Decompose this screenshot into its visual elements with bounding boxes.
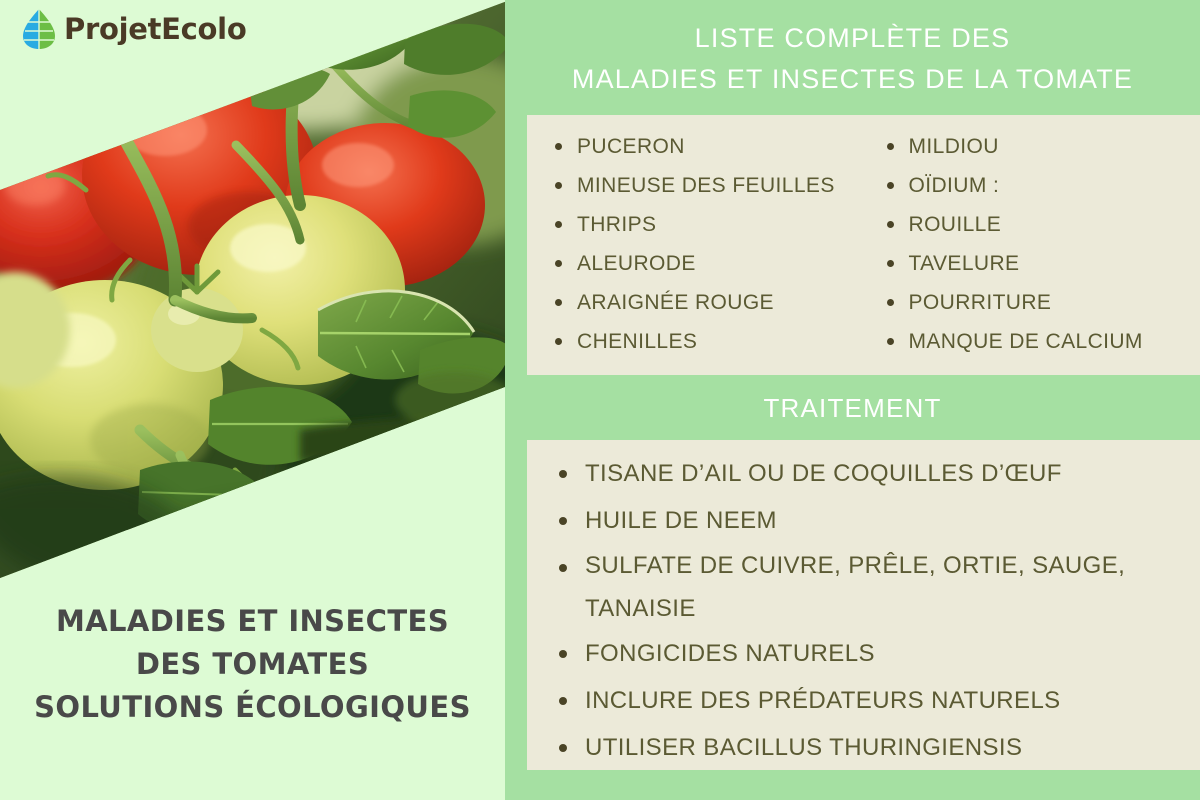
treatment-title: TRAITEMENT [505,388,1200,429]
right-panel: LISTE COMPLÈTE DES MALADIES ET INSECTES … [505,0,1200,800]
page-title: LISTE COMPLÈTE DES MALADIES ET INSECTES … [505,18,1200,100]
list-item: FONGICIDES NATURELS [553,630,1200,677]
treatment-list: TISANE D’AIL OU DE COQUILLES D’ŒUF HUILE… [527,450,1200,771]
brand-name: ProjetEcolo [64,12,246,46]
page-title-line-2: MALADIES ET INSECTES DE LA TOMATE [505,59,1200,100]
list-item: THRIPS [549,205,871,244]
list-item: TAVELURE [881,244,1200,283]
brand-logo-block: ProjetEcolo [22,8,246,50]
treatment-card: TISANE D’AIL OU DE COQUILLES D’ŒUF HUILE… [527,440,1200,770]
list-item: MANQUE DE CALCIUM [881,322,1200,361]
page-title-line-1: LISTE COMPLÈTE DES [505,18,1200,59]
list-item: INCLURE DES PRÉDATEURS NATURELS [553,677,1200,724]
caption-block: MALADIES ET INSECTES DES TOMATES SOLUTIO… [0,600,505,729]
list-item: HUILE DE NEEM [553,497,1200,544]
infographic-root: ProjetEcolo [0,0,1200,800]
disease-list-right: MILDIOU OÏDIUM : ROUILLE TAVELURE POURRI… [881,127,1200,361]
left-panel: ProjetEcolo [0,0,505,800]
caption-line-3: SOLUTIONS ÉCOLOGIQUES [0,686,505,729]
list-item: SULFATE DE CUIVRE, PRÊLE, ORTIE, SAUGE, … [553,544,1200,630]
tomato-photo [0,0,505,600]
list-item: ALEURODE [549,244,871,283]
list-item: CHENILLES [549,322,871,361]
tomato-photo-image [0,0,505,600]
disease-column-left: PUCERON MINEUSE DES FEUILLES THRIPS ALEU… [527,115,871,375]
list-item: MINEUSE DES FEUILLES [549,166,871,205]
disease-list-card: PUCERON MINEUSE DES FEUILLES THRIPS ALEU… [527,115,1200,375]
list-item: POURRITURE [881,283,1200,322]
list-item: PUCERON [549,127,871,166]
disease-list-left: PUCERON MINEUSE DES FEUILLES THRIPS ALEU… [549,127,871,361]
caption-line-2: DES TOMATES [0,643,505,686]
disease-column-right: MILDIOU OÏDIUM : ROUILLE TAVELURE POURRI… [871,115,1200,375]
list-item: ARAIGNÉE ROUGE [549,283,871,322]
list-item: OÏDIUM : [881,166,1200,205]
list-item: MILDIOU [881,127,1200,166]
leaf-icon [22,8,56,50]
list-item: UTILISER BACILLUS THURINGIENSIS [553,724,1200,771]
list-item: ROUILLE [881,205,1200,244]
caption-line-1: MALADIES ET INSECTES [0,600,505,643]
list-item: TISANE D’AIL OU DE COQUILLES D’ŒUF [553,450,1200,497]
